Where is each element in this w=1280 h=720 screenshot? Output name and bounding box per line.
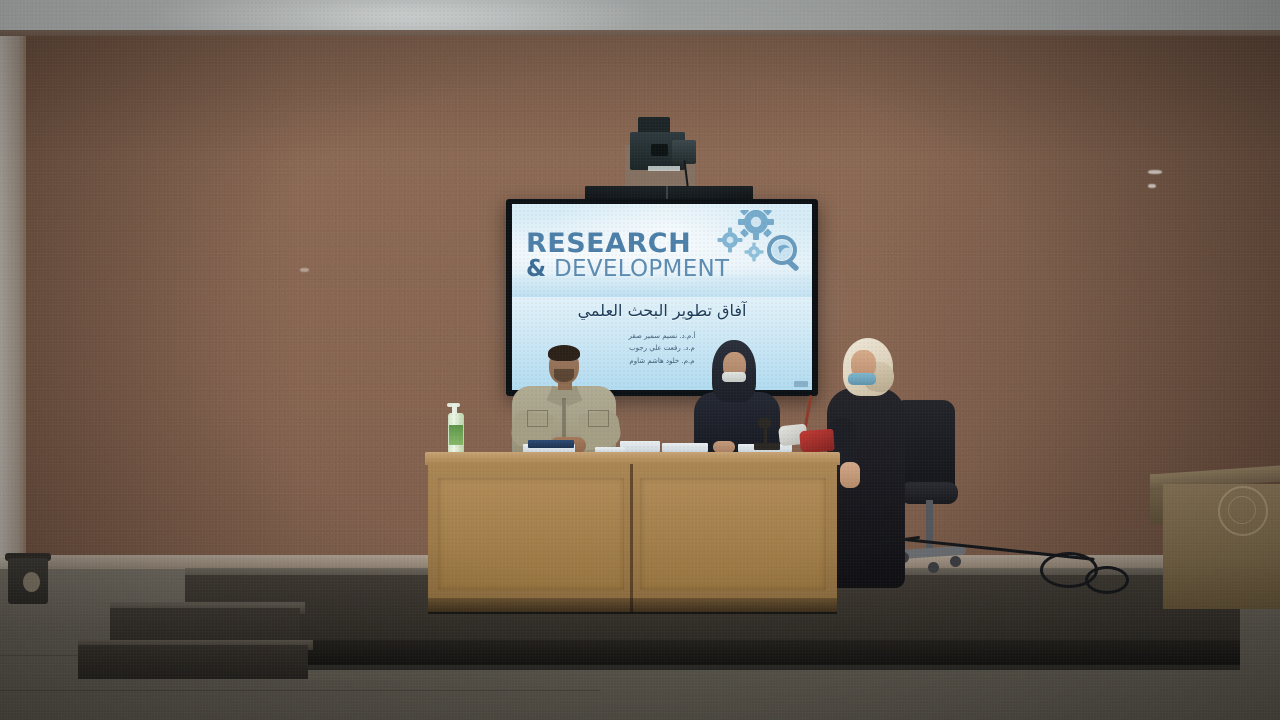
hand-sanitizer-label: [449, 425, 463, 445]
slide-logo-line2: & DEVELOPMENT: [526, 257, 756, 281]
wall-scuff-mark: [1148, 170, 1162, 174]
wall-left-shading: [0, 36, 300, 581]
floor-cable-coil: [1085, 566, 1129, 594]
microphone-head[interactable]: [758, 418, 771, 428]
person-center-face-mask: [722, 372, 746, 382]
slide-logo-line1: RESEARCH: [526, 231, 756, 257]
papers[interactable]: [620, 441, 660, 452]
desk-base-shadow: [428, 598, 837, 614]
office-chair-post: [926, 500, 933, 552]
office-chair-caster: [928, 562, 939, 573]
slide-corner-logo: [794, 381, 808, 387]
desk-panel-left: [438, 478, 624, 590]
person-right-hand: [840, 462, 860, 488]
microphone-stem[interactable]: [764, 425, 767, 445]
person-right-face-mask: [848, 373, 876, 385]
papers[interactable]: [662, 443, 708, 452]
presenter-line: أ.م.د. نسيم سمير صقر: [512, 330, 812, 342]
lectern-emblem-inner: [1228, 496, 1256, 524]
magnifier-icon: [769, 237, 800, 272]
slide-arabic-title: آفاق تطوير البحث العلمي: [512, 301, 812, 320]
waste-bin-contents: [23, 572, 40, 592]
desk-panel-right: [640, 478, 826, 590]
slide-logo-text: RESEARCH & DEVELOPMENT: [526, 231, 756, 281]
stage-front-shadow: [185, 640, 1240, 670]
wall-scuff-mark: [1148, 184, 1156, 188]
slide-logo-ampersand: &: [526, 256, 546, 282]
folder[interactable]: [528, 440, 574, 448]
desk-module-seam: [630, 464, 633, 612]
office-chair-caster: [950, 556, 961, 567]
wall-scuff-mark: [300, 268, 309, 272]
wall-left-pillar: [0, 36, 26, 581]
person-left-shirt-pocket: [588, 410, 609, 427]
conference-room-photo: RESEARCH & DEVELOPMENT آفاق تطوير البحث …: [0, 0, 1280, 720]
projector-lens: [651, 144, 668, 156]
floor-tile-seam: [0, 690, 600, 691]
microphone-base[interactable]: [754, 443, 780, 450]
person-left-hair: [548, 345, 580, 361]
red-handbag[interactable]: [799, 429, 834, 453]
person-left-beard: [554, 369, 574, 382]
person-left-shirt-pocket: [527, 410, 548, 427]
projector-underside-highlight: [648, 166, 680, 171]
stage-step-lower: [78, 645, 308, 679]
slide-logo-development: DEVELOPMENT: [554, 256, 729, 282]
